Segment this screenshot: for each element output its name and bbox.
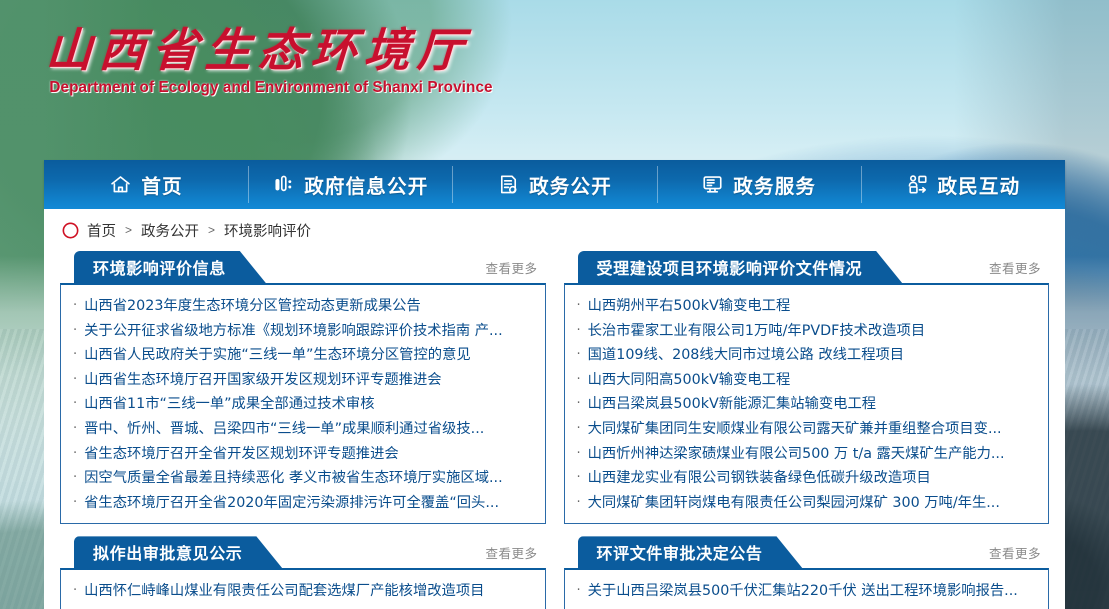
monitor-icon <box>701 173 724 196</box>
panel-tab[interactable]: 环境影响评价信息 <box>74 251 266 283</box>
list-item: ·山西省生态环境厅召开国家级开发区规划环评专题推进会 <box>73 368 533 393</box>
panel-title: 拟作出审批意见公示 <box>93 540 242 564</box>
bullet-icon: · <box>73 496 77 509</box>
list-item: ·山西省2023年度生态环境分区管控动态更新成果公告 <box>73 294 533 319</box>
nav-item-affairs-service-label: 政务服务 <box>733 170 816 199</box>
news-link[interactable]: 国道109线、208线大同市过境公路 改线工程项目 <box>588 343 904 368</box>
bullet-icon: · <box>73 447 77 460</box>
breadcrumb-item-0[interactable]: 首页 <box>87 220 116 241</box>
nav-item-affairs-disclosure[interactable]: 政务公开 <box>452 160 656 209</box>
news-link[interactable]: 长治市霍家工业有限公司1万吨/年PVDF技术改造项目 <box>588 319 925 344</box>
view-more-link[interactable]: 查看更多 <box>485 258 537 277</box>
news-link[interactable]: 山西省人民政府关于实施“三线一单”生态环境分区管控的意见 <box>84 343 471 368</box>
list-item: ·因空气质量全省最差且持续恶化 孝义市被省生态环境厅实施区域... <box>73 466 533 491</box>
panel-body: ·山西朔州平右500kV输变电工程 ·长治市霍家工业有限公司1万吨/年PVDF技… <box>564 283 1050 524</box>
document-list-icon <box>497 173 520 196</box>
news-link[interactable]: 大同煤矿集团轩岗煤电有限责任公司梨园河煤矿 300 万吨/年生... <box>588 491 1000 516</box>
list-item: ·山西忻州神达梁家碛煤业有限公司500 万 t/a 露天煤矿生产能力... <box>577 442 1037 467</box>
panel-accepted-eia-documents: 受理建设项目环境影响评价文件情况 查看更多 ·山西朔州平右500kV输变电工程 … <box>564 251 1050 524</box>
page-root: 山西省生态环境厅 Department of Ecology and Envir… <box>0 0 1109 609</box>
panel-tab[interactable]: 环评文件审批决定公告 <box>578 536 803 568</box>
breadcrumb-item-1[interactable]: 政务公开 <box>141 220 199 241</box>
news-link[interactable]: 山西吕梁岚县500kV新能源汇集站输变电工程 <box>588 392 876 417</box>
bullet-icon: · <box>577 324 581 337</box>
list-item: ·关于公开征求省级地方标准《规划环境影响跟踪评价技术指南 产... <box>73 319 533 344</box>
panel-header: 环境影响评价信息 查看更多 <box>60 251 546 283</box>
list-item: ·山西吕梁岚县500kV新能源汇集站输变电工程 <box>577 392 1037 417</box>
site-title-en: Department of Ecology and Environment of… <box>49 79 492 97</box>
bullet-icon: · <box>73 471 77 484</box>
list-item: ·山西朔州平右500kV输变电工程 <box>577 294 1037 319</box>
panel-eia-information: 环境影响评价信息 查看更多 ·山西省2023年度生态环境分区管控动态更新成果公告… <box>60 251 546 524</box>
main-navigation: 首页 政府信息公开 政务公开 <box>44 160 1065 209</box>
panel-tab[interactable]: 受理建设项目环境影响评价文件情况 <box>578 251 903 283</box>
bullet-icon: · <box>73 422 77 435</box>
list-item: ·山西大同阳高500kV输变电工程 <box>577 368 1037 393</box>
bullet-icon: · <box>577 397 581 410</box>
nav-item-home-label: 首页 <box>141 170 182 199</box>
nav-item-public-interaction-label: 政民互动 <box>938 170 1021 199</box>
site-logo[interactable]: 山西省生态环境厅 Department of Ecology and Envir… <box>46 26 496 97</box>
home-circle-icon[interactable] <box>62 222 79 239</box>
bullet-icon: · <box>577 299 581 312</box>
panel-header: 受理建设项目环境影响评价文件情况 查看更多 <box>564 251 1050 283</box>
panel-body: ·山西省2023年度生态环境分区管控动态更新成果公告 ·关于公开征求省级地方标准… <box>60 283 546 524</box>
news-list: ·山西怀仁峙峰山煤业有限责任公司配套选煤厂产能核增改造项目 <box>73 579 533 604</box>
list-item: ·国道109线、208线大同市过境公路 改线工程项目 <box>577 343 1037 368</box>
nav-item-public-interaction[interactable]: 政民互动 <box>861 160 1065 209</box>
news-link[interactable]: 山西省生态环境厅召开国家级开发区规划环评专题推进会 <box>84 368 441 393</box>
bullet-icon: · <box>577 447 581 460</box>
panel-header: 拟作出审批意见公示 查看更多 <box>60 536 546 568</box>
panel-body: ·山西怀仁峙峰山煤业有限责任公司配套选煤厂产能核增改造项目 <box>60 568 546 609</box>
breadcrumb-separator: > <box>124 223 133 237</box>
panel-approval-decision-notice: 环评文件审批决定公告 查看更多 ·关于山西吕梁岚县500千伏汇集站220千伏 送… <box>564 536 1050 609</box>
home-icon <box>109 173 132 196</box>
view-more-link[interactable]: 查看更多 <box>989 543 1041 562</box>
news-link[interactable]: 山西怀仁峙峰山煤业有限责任公司配套选煤厂产能核增改造项目 <box>84 579 484 604</box>
list-item: ·山西省11市“三线一单”成果全部通过技术审核 <box>73 392 533 417</box>
list-item: ·省生态环境厅召开全省开发区规划环评专题推进会 <box>73 442 533 467</box>
nav-item-government-info-label: 政府信息公开 <box>304 170 428 199</box>
bullet-icon: · <box>577 422 581 435</box>
site-title-cn: 山西省生态环境厅 <box>45 26 498 75</box>
panel-title: 受理建设项目环境影响评价文件情况 <box>597 255 863 279</box>
bullet-icon: · <box>73 397 77 410</box>
news-list: ·山西省2023年度生态环境分区管控动态更新成果公告 ·关于公开征求省级地方标准… <box>73 294 533 515</box>
news-link[interactable]: 山西朔州平右500kV输变电工程 <box>588 294 791 319</box>
news-link[interactable]: 晋中、忻州、晋城、吕梁四市“三线一单”成果顺利通过省级技... <box>84 417 484 442</box>
bullet-icon: · <box>577 471 581 484</box>
people-exchange-icon <box>906 173 929 196</box>
bullet-icon: · <box>577 373 581 386</box>
panel-title: 环评文件审批决定公告 <box>597 540 763 564</box>
bullet-icon: · <box>73 348 77 361</box>
list-item: ·长治市霍家工业有限公司1万吨/年PVDF技术改造项目 <box>577 319 1037 344</box>
bullet-icon: · <box>73 324 77 337</box>
panel-title: 环境影响评价信息 <box>93 255 226 279</box>
breadcrumb-item-2: 环境影响评价 <box>224 220 311 241</box>
list-item: ·关于山西吕梁岚县500千伏汇集站220千伏 送出工程环境影响报告... <box>577 579 1037 604</box>
list-item: ·山西省人民政府关于实施“三线一单”生态环境分区管控的意见 <box>73 343 533 368</box>
nav-item-government-info[interactable]: 政府信息公开 <box>248 160 452 209</box>
breadcrumb: 首页 > 政务公开 > 环境影响评价 <box>44 209 1065 251</box>
news-list: ·山西朔州平右500kV输变电工程 ·长治市霍家工业有限公司1万吨/年PVDF技… <box>577 294 1037 515</box>
panel-header: 环评文件审批决定公告 查看更多 <box>564 536 1050 568</box>
news-link[interactable]: 关于山西吕梁岚县500千伏汇集站220千伏 送出工程环境影响报告... <box>588 579 1018 604</box>
view-more-link[interactable]: 查看更多 <box>485 543 537 562</box>
news-link[interactable]: 大同煤矿集团同生安顺煤业有限公司露天矿兼并重组整合项目变... <box>588 417 1002 442</box>
news-link[interactable]: 关于公开征求省级地方标准《规划环境影响跟踪评价技术指南 产... <box>84 319 503 344</box>
panel-tab[interactable]: 拟作出审批意见公示 <box>74 536 282 568</box>
news-link[interactable]: 山西省2023年度生态环境分区管控动态更新成果公告 <box>84 294 421 319</box>
panel-body: ·关于山西吕梁岚县500千伏汇集站220千伏 送出工程环境影响报告... <box>564 568 1050 609</box>
news-link[interactable]: 山西建龙实业有限公司钢铁装备绿色低碳升级改造项目 <box>588 466 931 491</box>
bullet-icon: · <box>73 373 77 386</box>
news-link[interactable]: 省生态环境厅召开全省开发区规划环评专题推进会 <box>84 442 399 467</box>
list-item: ·大同煤矿集团同生安顺煤业有限公司露天矿兼并重组整合项目变... <box>577 417 1037 442</box>
news-list: ·关于山西吕梁岚县500千伏汇集站220千伏 送出工程环境影响报告... <box>577 579 1037 604</box>
bullet-icon: · <box>73 584 77 597</box>
bullet-icon: · <box>73 299 77 312</box>
news-link[interactable]: 山西大同阳高500kV输变电工程 <box>588 368 791 393</box>
view-more-link[interactable]: 查看更多 <box>989 258 1041 277</box>
news-link[interactable]: 山西忻州神达梁家碛煤业有限公司500 万 t/a 露天煤矿生产能力... <box>588 442 1005 467</box>
news-link[interactable]: 省生态环境厅召开全省2020年固定污染源排污许可全覆盖“回头... <box>84 491 499 516</box>
panel-draft-approval-opinion: 拟作出审批意见公示 查看更多 ·山西怀仁峙峰山煤业有限责任公司配套选煤厂产能核增… <box>60 536 546 609</box>
news-link[interactable]: 山西省11市“三线一单”成果全部通过技术审核 <box>84 392 374 417</box>
list-item: ·大同煤矿集团轩岗煤电有限责任公司梨园河煤矿 300 万吨/年生... <box>577 491 1037 516</box>
list-item: ·山西怀仁峙峰山煤业有限责任公司配套选煤厂产能核增改造项目 <box>73 579 533 604</box>
bullet-icon: · <box>577 584 581 597</box>
bullet-icon: · <box>577 348 581 361</box>
nav-item-affairs-disclosure-label: 政务公开 <box>529 170 612 199</box>
bar-chart-icon <box>272 173 295 196</box>
news-link[interactable]: 因空气质量全省最差且持续恶化 孝义市被省生态环境厅实施区域... <box>84 466 503 491</box>
panel-grid: 环境影响评价信息 查看更多 ·山西省2023年度生态环境分区管控动态更新成果公告… <box>44 251 1065 609</box>
list-item: ·山西建龙实业有限公司钢铁装备绿色低碳升级改造项目 <box>577 466 1037 491</box>
list-item: ·晋中、忻州、晋城、吕梁四市“三线一单”成果顺利通过省级技... <box>73 417 533 442</box>
masthead: 山西省生态环境厅 Department of Ecology and Envir… <box>0 0 1109 150</box>
list-item: ·省生态环境厅召开全省2020年固定污染源排污许可全覆盖“回头... <box>73 491 533 516</box>
nav-item-affairs-service[interactable]: 政务服务 <box>657 160 861 209</box>
breadcrumb-separator: > <box>207 223 216 237</box>
content-card: 首页 > 政务公开 > 环境影响评价 环境影响评价信息 查看更多 ·山西省202… <box>44 209 1065 609</box>
nav-item-home[interactable]: 首页 <box>44 160 248 209</box>
bullet-icon: · <box>577 496 581 509</box>
